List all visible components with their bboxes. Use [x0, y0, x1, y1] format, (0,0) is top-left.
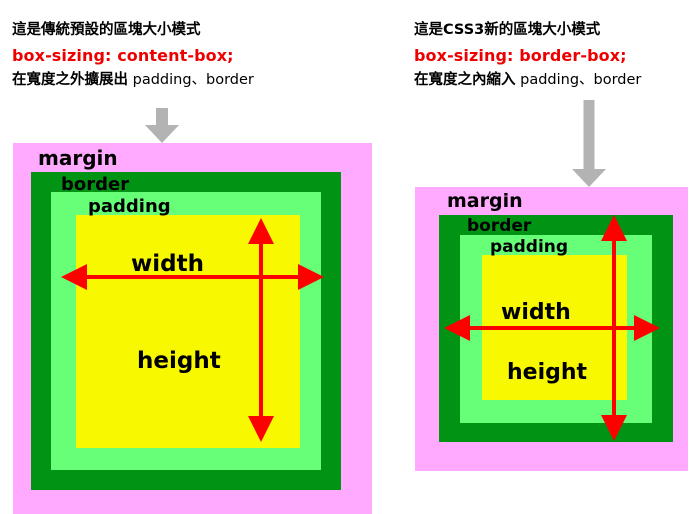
height-arrow-line	[612, 236, 616, 420]
margin-label: margin	[447, 192, 523, 211]
width-arrow-head-left	[444, 315, 470, 341]
border-label: border	[61, 176, 129, 194]
left-caption-line-3-plain: padding、border	[128, 72, 254, 88]
right-caption-block: 這是CSS3新的區塊大小模式 box-sizing: border-box; 在…	[414, 18, 641, 93]
right-caption-line-1: 這是CSS3新的區塊大小模式	[414, 18, 641, 43]
down-arrow-icon	[572, 100, 606, 187]
arrow-head	[572, 169, 606, 187]
height-label: height	[507, 362, 587, 384]
height-arrow-line	[259, 239, 263, 422]
right-caption-line-3-plain: padding、border	[516, 72, 642, 88]
padding-label: padding	[490, 239, 568, 256]
width-arrow-head-right	[634, 315, 660, 341]
right-caption-line-3: 在寬度之內縮入 padding、border	[414, 68, 641, 93]
width-arrow-head-left	[61, 264, 87, 290]
padding-label: padding	[88, 198, 171, 216]
height-arrow-head-top	[601, 215, 627, 241]
left-caption-line-3: 在寬度之外擴展出 padding、border	[12, 68, 254, 93]
arrow-head	[145, 125, 179, 143]
height-arrow-head-top	[248, 218, 274, 244]
right-caption-line-3-bold: 在寬度之內縮入	[414, 72, 516, 88]
box-model-diagram-border-box: margin border padding width height	[415, 187, 688, 471]
left-caption-block: 這是傳統預設的區塊大小模式 box-sizing: content-box; 在…	[12, 18, 254, 93]
margin-label: margin	[38, 148, 118, 168]
arrow-shaft	[584, 100, 595, 172]
height-arrow-head-bottom	[601, 415, 627, 441]
box-model-diagram-content-box: margin border padding width height	[13, 143, 372, 514]
height-label: height	[137, 350, 221, 373]
content-layer	[76, 215, 300, 448]
width-label: width	[501, 302, 571, 324]
down-arrow-icon	[146, 108, 178, 143]
width-label: width	[131, 253, 204, 276]
width-arrow-head-right	[298, 264, 324, 290]
right-caption-code: box-sizing: border-box;	[414, 43, 641, 68]
left-caption-line-1: 這是傳統預設的區塊大小模式	[12, 18, 254, 43]
left-caption-line-3-bold: 在寬度之外擴展出	[12, 72, 128, 88]
height-arrow-head-bottom	[248, 416, 274, 442]
border-label: border	[467, 218, 531, 235]
left-caption-code: box-sizing: content-box;	[12, 43, 254, 68]
